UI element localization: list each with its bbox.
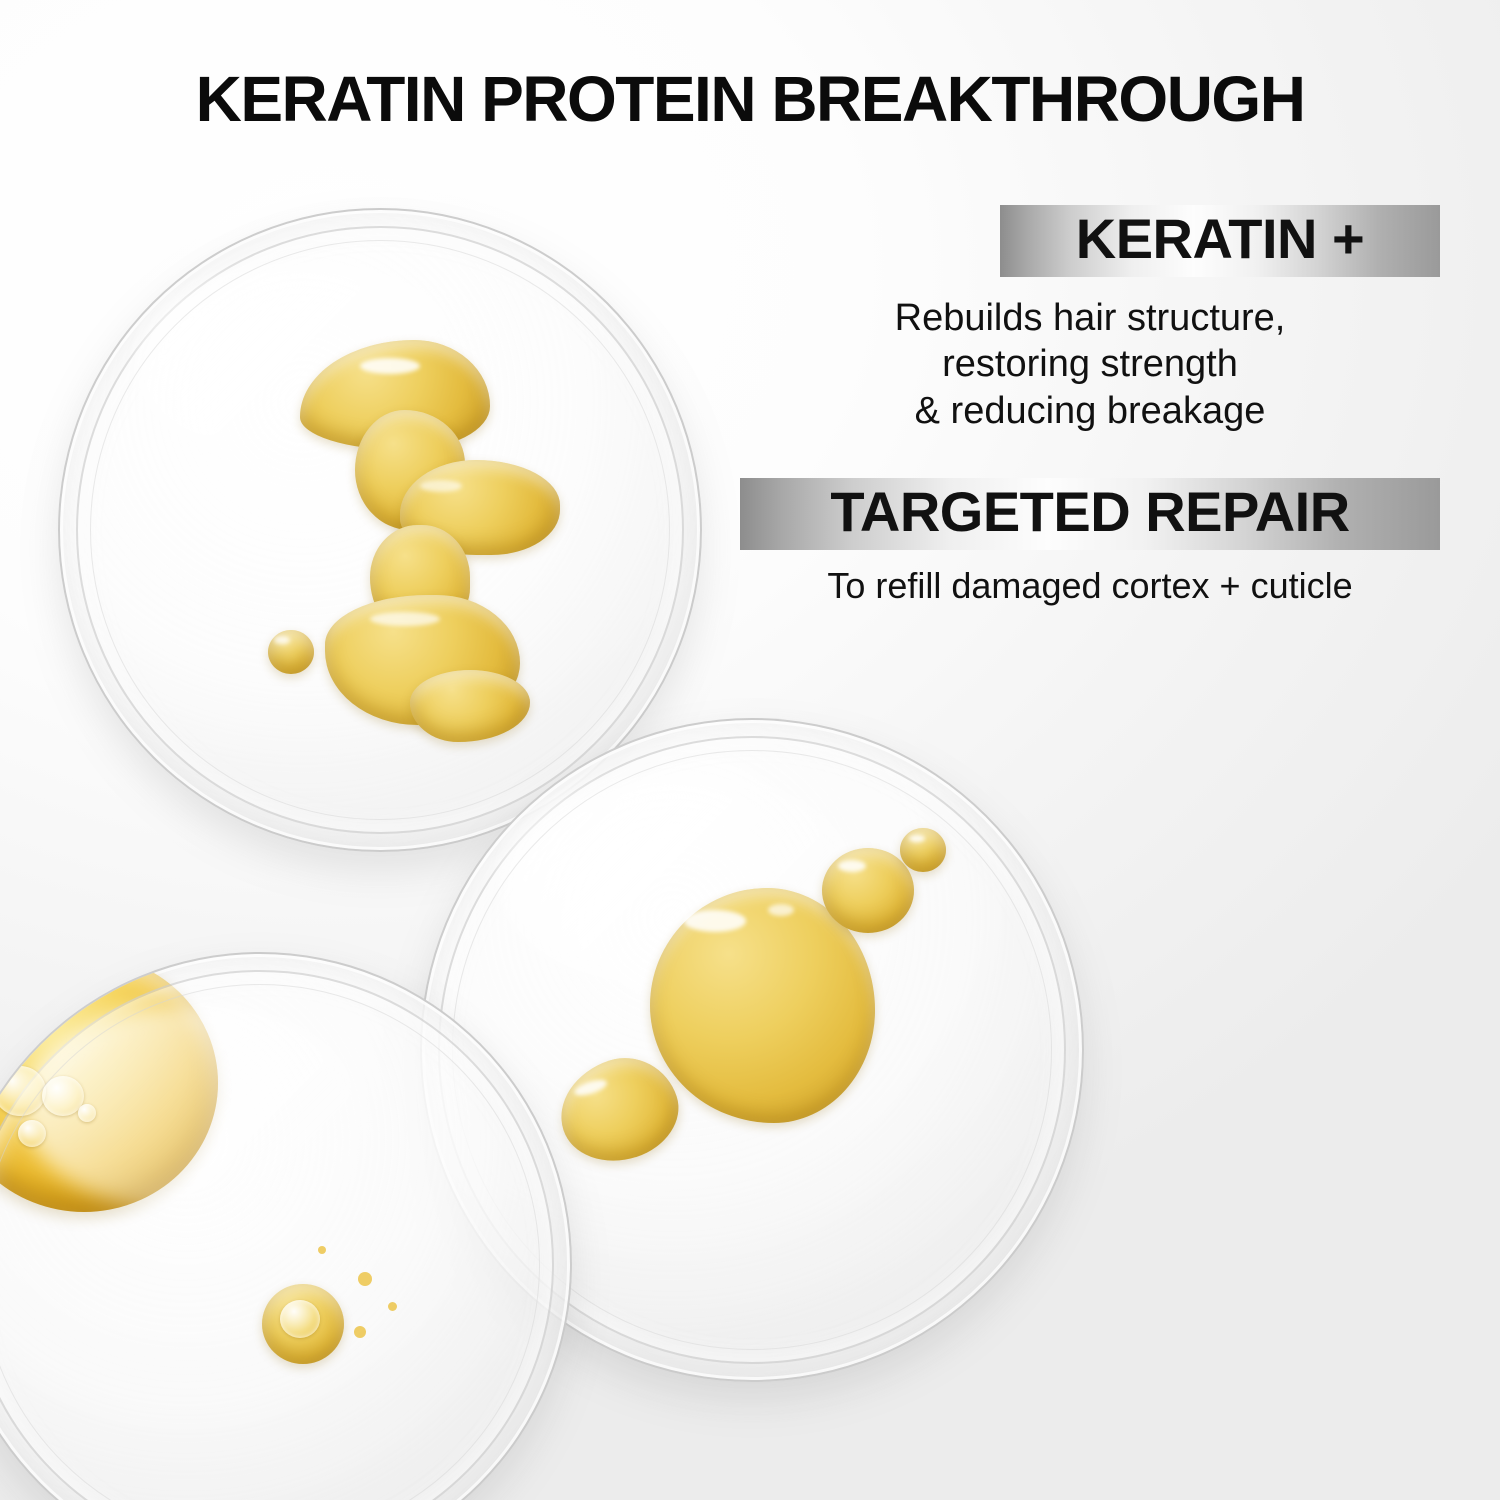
oil-droplet-large: [650, 888, 875, 1123]
oil-droplet-small: [900, 828, 946, 872]
dish-glare: [501, 773, 871, 997]
gold-serum-splash: [260, 340, 590, 740]
oil-speck: [318, 1246, 326, 1254]
section-divider: [740, 434, 1440, 478]
oil-speck: [358, 1272, 372, 1286]
product-benefit-poster: KERATIN PROTEIN BREAKTHROUGH: [0, 0, 1500, 1500]
feature-description-line: & reducing breakage: [740, 388, 1440, 434]
feature-description-line: Rebuilds hair structure,: [740, 295, 1440, 341]
oil-droplet-lower: [547, 1044, 690, 1176]
feature-title-keratin-plus: KERATIN +: [1000, 211, 1440, 267]
oil-droplet-satellite: [262, 1284, 344, 1364]
dish-glare: [137, 261, 495, 479]
feature-description-keratin-plus: Rebuilds hair structure, restoring stren…: [740, 295, 1440, 434]
feature-banner-keratin-plus: KERATIN +: [1000, 205, 1440, 277]
oil-droplet-medium: [822, 848, 914, 933]
feature-title-targeted-repair: TARGETED REPAIR: [740, 484, 1440, 540]
oil-droplet-xl: [0, 954, 218, 1212]
feature-description-targeted-repair: To refill damaged cortex + cuticle: [740, 564, 1440, 607]
benefits-column: KERATIN + Rebuilds hair structure, resto…: [740, 205, 1440, 607]
oil-speck: [388, 1302, 397, 1311]
dish-glare: [24, 1004, 371, 1215]
feature-description-line: restoring strength: [740, 341, 1440, 387]
page-title: KERATIN PROTEIN BREAKTHROUGH: [0, 62, 1500, 136]
feature-banner-targeted-repair: TARGETED REPAIR: [740, 478, 1440, 550]
oil-speck: [354, 1326, 366, 1338]
